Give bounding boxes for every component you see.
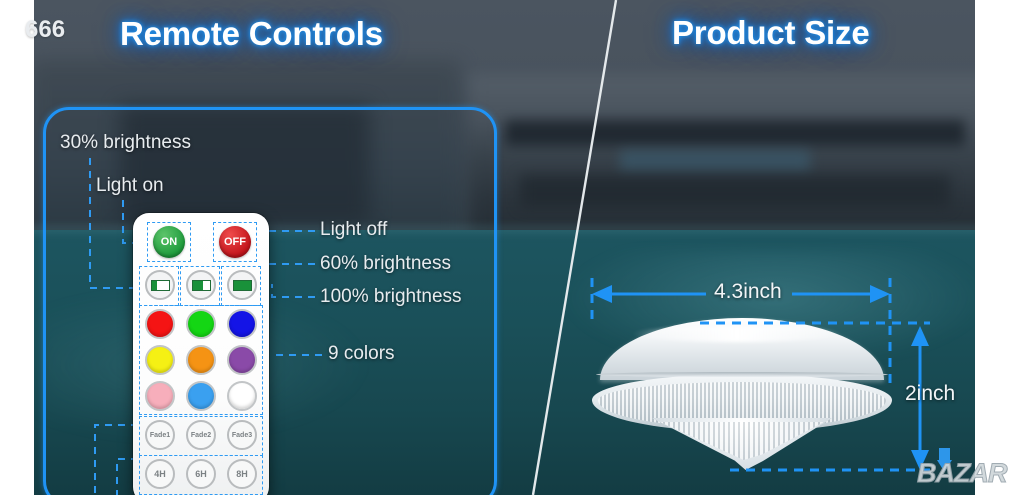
dimension-label-width: 4.3inch — [714, 280, 782, 304]
battery-icon-30 — [151, 280, 170, 291]
remote-color-orange[interactable] — [186, 345, 216, 375]
promo-image: 666 Remote Controls Product Size 30% bri… — [0, 0, 1024, 495]
remote-brightness-row — [141, 270, 261, 302]
remote-button-brightness-60[interactable] — [186, 270, 216, 300]
remote-color-purple[interactable] — [227, 345, 257, 375]
remote-button-brightness-30[interactable] — [145, 270, 175, 300]
remote-button-fade3[interactable]: Fade3 — [227, 420, 257, 450]
remote-color-row-1 — [141, 309, 261, 341]
page-title-product-size: Product Size — [672, 14, 869, 52]
remote-button-fade2[interactable]: Fade2 — [186, 420, 216, 450]
right-white-margin — [975, 0, 1024, 495]
remote-timer-row: 4H 6H 8H — [141, 459, 261, 491]
callout-light-off: Light off — [320, 219, 387, 241]
corner-number: 666 — [25, 16, 65, 44]
remote-button-timer-4h[interactable]: 4H — [145, 459, 175, 489]
battery-icon-60 — [192, 280, 211, 291]
remote-color-blue[interactable] — [227, 309, 257, 339]
battery-icon-100 — [233, 280, 252, 291]
product-bottom-texture — [660, 422, 824, 460]
remote-color-light-blue[interactable] — [186, 381, 216, 411]
remote-power-row: ON OFF — [143, 222, 259, 262]
page-title-remote-controls: Remote Controls — [120, 15, 383, 53]
watermark: BAZAR — [917, 448, 1022, 490]
remote-color-white[interactable] — [227, 381, 257, 411]
background-house-window — [620, 150, 810, 172]
remote-color-green[interactable] — [186, 309, 216, 339]
callout-nine-colors: 9 colors — [328, 343, 395, 365]
remote-color-yellow[interactable] — [145, 345, 175, 375]
callout-brightness-60: 60% brightness — [320, 253, 451, 275]
product-highlight — [632, 326, 842, 342]
left-white-margin — [0, 0, 34, 495]
product-seam — [596, 372, 888, 377]
product-photo — [592, 318, 892, 468]
remote-button-timer-6h[interactable]: 6H — [186, 459, 216, 489]
remote-color-row-3 — [141, 381, 261, 413]
remote-color-row-2 — [141, 345, 261, 377]
remote-color-red[interactable] — [145, 309, 175, 339]
remote-button-on[interactable]: ON — [153, 226, 185, 258]
watermark-text: BAZAR — [917, 458, 1007, 489]
remote-fade-row: Fade1 Fade2 Fade3 — [141, 420, 261, 452]
remote-button-fade1[interactable]: Fade1 — [145, 420, 175, 450]
background-house-band-upper — [505, 120, 965, 146]
callout-brightness-100: 100% brightness — [320, 286, 462, 308]
dimension-label-height: 2inch — [905, 382, 955, 406]
remote-control[interactable]: ON OFF — [133, 213, 269, 495]
callout-light-on: Light on — [96, 175, 164, 197]
remote-button-off[interactable]: OFF — [219, 226, 251, 258]
callout-brightness-30: 30% brightness — [60, 132, 191, 154]
remote-color-pink[interactable] — [145, 381, 175, 411]
remote-button-timer-8h[interactable]: 8H — [227, 459, 257, 489]
background-house-band-lower — [520, 175, 950, 207]
remote-button-brightness-100[interactable] — [227, 270, 257, 300]
